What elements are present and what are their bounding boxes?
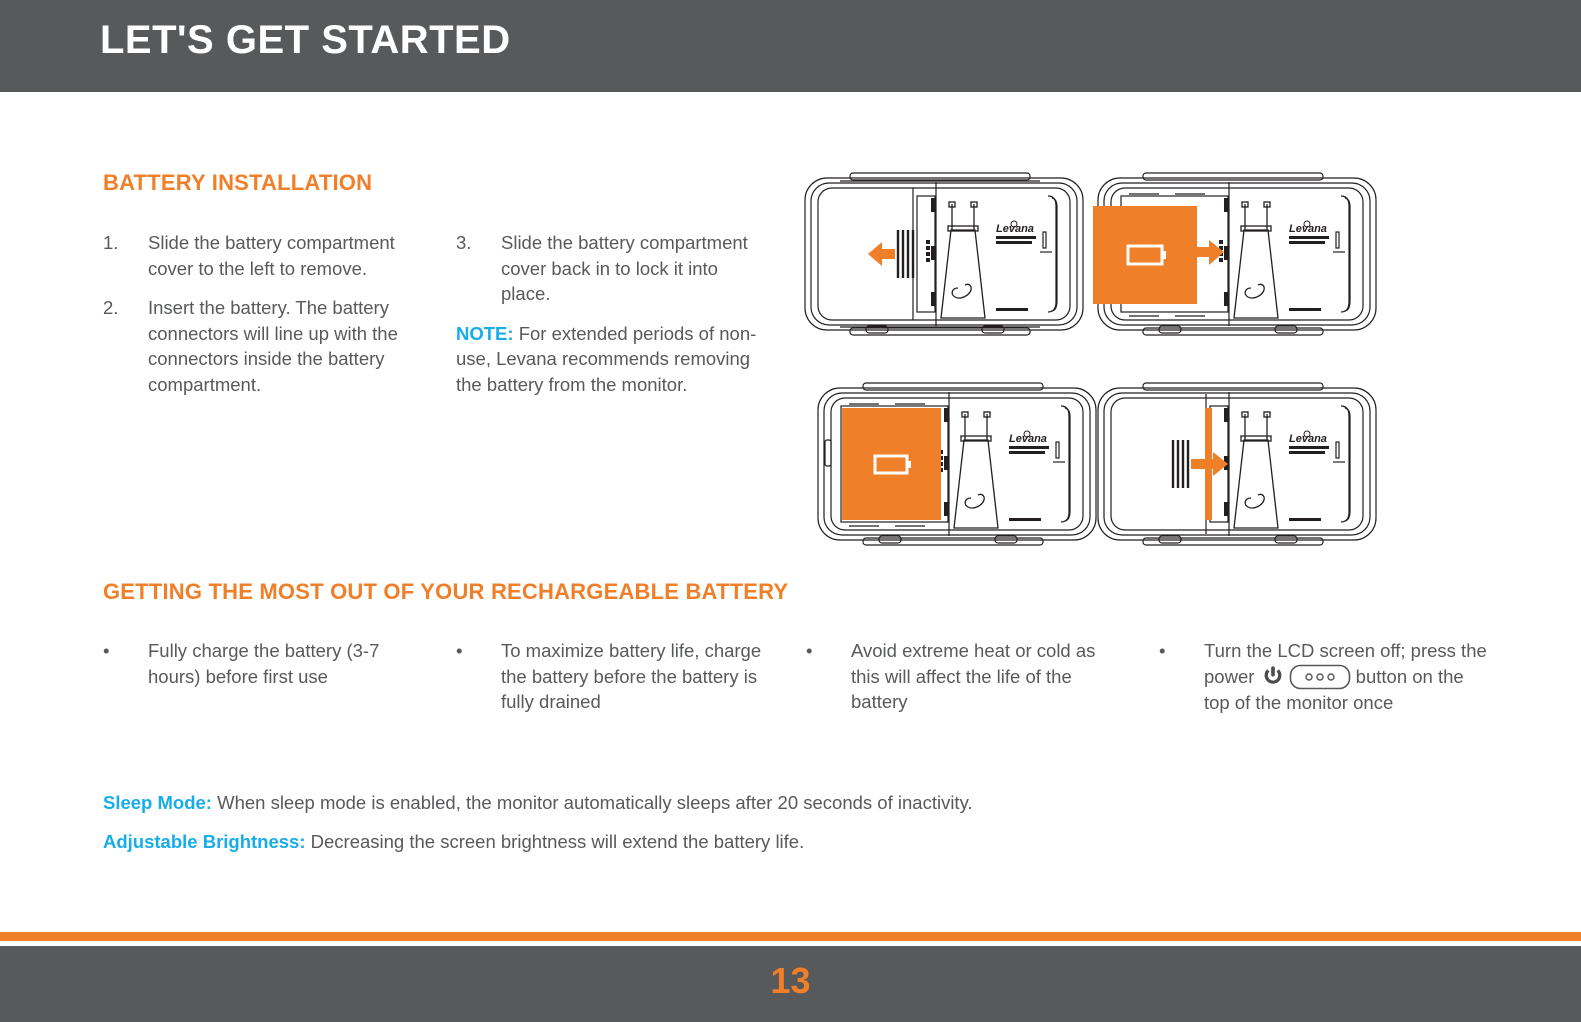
svg-text:Levana: Levana bbox=[1289, 223, 1327, 235]
three-dot-button-icon bbox=[1289, 664, 1351, 690]
list-item: • To maximize battery life, charge the b… bbox=[456, 638, 766, 715]
step-text: Slide the battery compartment cover to t… bbox=[148, 230, 433, 281]
list-item: • Fully charge the battery (3-7 hours) b… bbox=[103, 638, 423, 689]
bullet-column: • Turn the LCD screen off; press the pow… bbox=[1159, 638, 1489, 715]
note-label: NOTE: bbox=[456, 323, 514, 344]
heading-battery-installation: BATTERY INSTALLATION bbox=[103, 170, 372, 196]
footnotes: Sleep Mode: When sleep mode is enabled, … bbox=[103, 790, 1403, 867]
bullet-column: • To maximize battery life, charge the b… bbox=[456, 638, 766, 715]
footnote-text: When sleep mode is enabled, the monitor … bbox=[212, 792, 973, 813]
page-title: LET'S GET STARTED bbox=[100, 18, 511, 63]
svg-text:Levana: Levana bbox=[1009, 433, 1047, 445]
illustration-monitor-back-cover-slide-left: Levana bbox=[800, 168, 1090, 340]
footer-divider bbox=[0, 932, 1581, 941]
step-item: 2. Insert the battery. The battery conne… bbox=[103, 295, 433, 397]
bullet-marker: • bbox=[806, 638, 851, 715]
svg-text:Levana: Levana bbox=[1289, 433, 1327, 445]
note-block: NOTE: For extended periods of non-use, L… bbox=[456, 321, 766, 398]
steps-column-right: 3. Slide the battery compartment cover b… bbox=[456, 230, 766, 397]
page-number: 13 bbox=[0, 960, 1581, 1002]
illustration-monitor-battery-installed: Levana bbox=[813, 378, 1103, 550]
heading-rechargeable-battery: GETTING THE MOST OUT OF YOUR RECHARGEABL… bbox=[103, 579, 788, 605]
step-text: Slide the battery compartment cover back… bbox=[501, 230, 766, 307]
step-number: 2. bbox=[103, 295, 148, 397]
power-icon bbox=[1262, 665, 1284, 687]
footnote-sleep-mode: Sleep Mode: When sleep mode is enabled, … bbox=[103, 790, 1403, 816]
bullet-text: Avoid extreme heat or cold as this will … bbox=[851, 638, 1126, 715]
svg-text:Levana: Levana bbox=[996, 223, 1034, 235]
bullet-marker: • bbox=[103, 638, 148, 689]
illustration-monitor-battery-insert: Levana bbox=[1093, 168, 1383, 340]
bullet-column: • Fully charge the battery (3-7 hours) b… bbox=[103, 638, 423, 689]
footnote-text: Decreasing the screen brightness will ex… bbox=[306, 831, 805, 852]
step-number: 3. bbox=[456, 230, 501, 307]
bullet-column: • Avoid extreme heat or cold as this wil… bbox=[806, 638, 1126, 715]
step-item: 3. Slide the battery compartment cover b… bbox=[456, 230, 766, 307]
illustration-monitor-cover-slide-back-right: Levana bbox=[1093, 378, 1383, 550]
list-item: • Turn the LCD screen off; press the pow… bbox=[1159, 638, 1489, 715]
step-number: 1. bbox=[103, 230, 148, 281]
step-text: Insert the battery. The battery connecto… bbox=[148, 295, 433, 397]
bullet-text-with-icons: Turn the LCD screen off; press the power… bbox=[1204, 638, 1489, 715]
footnote-label: Sleep Mode: bbox=[103, 792, 212, 813]
bullet-text: Fully charge the battery (3-7 hours) bef… bbox=[148, 638, 423, 689]
page: LET'S GET STARTED BATTERY INSTALLATION 1… bbox=[0, 0, 1581, 1022]
bullet-text: To maximize battery life, charge the bat… bbox=[501, 638, 766, 715]
list-item: • Avoid extreme heat or cold as this wil… bbox=[806, 638, 1126, 715]
page-header: LET'S GET STARTED bbox=[0, 0, 1581, 92]
steps-column-left: 1. Slide the battery compartment cover t… bbox=[103, 230, 433, 411]
step-item: 1. Slide the battery compartment cover t… bbox=[103, 230, 433, 281]
illustration-group: Levana bbox=[800, 168, 1400, 558]
bullet-marker: • bbox=[456, 638, 501, 715]
footnote-adjustable-brightness: Adjustable Brightness: Decreasing the sc… bbox=[103, 829, 1403, 855]
footnote-label: Adjustable Brightness: bbox=[103, 831, 306, 852]
bullet-marker: • bbox=[1159, 638, 1204, 715]
